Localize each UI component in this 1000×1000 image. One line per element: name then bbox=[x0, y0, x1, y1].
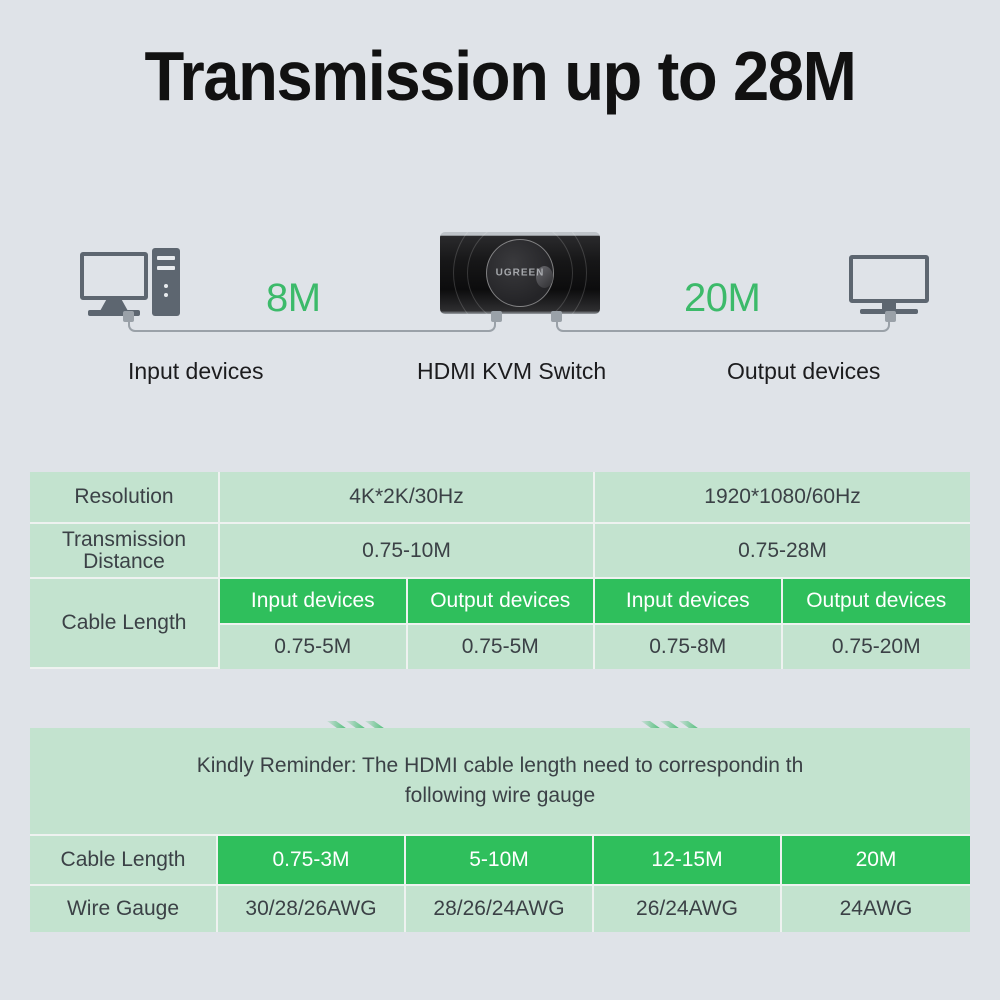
diagram-caption-row: Input devices HDMI KVM Switch Output dev… bbox=[0, 358, 1000, 398]
cell-gauge-length-1: 0.75-3M bbox=[218, 836, 406, 886]
cell-wire-gauge-2: 28/26/24AWG bbox=[406, 886, 594, 932]
row-label-resolution: Resolution bbox=[30, 472, 220, 524]
transmission-label-line2: Distance bbox=[30, 551, 218, 572]
specification-table: Resolution 4K*2K/30Hz 1920*1080/60Hz Tra… bbox=[30, 472, 970, 669]
subheader-output-devices-1: Output devices bbox=[408, 579, 596, 625]
cell-gauge-length-2: 5-10M bbox=[406, 836, 594, 886]
table-row-gauge-values: Wire Gauge 30/28/26AWG 28/26/24AWG 26/24… bbox=[30, 886, 970, 932]
reminder-row: Kindly Reminder: The HDMI cable length n… bbox=[30, 728, 970, 836]
transmission-label-line1: Transmission bbox=[30, 529, 218, 550]
tower-dot-icon bbox=[164, 293, 168, 297]
page-title: Transmission up to 28M bbox=[35, 36, 965, 116]
row-label-gauge-cable-length: Cable Length bbox=[30, 836, 218, 886]
cable-plug-icon bbox=[491, 311, 502, 322]
output-monitor-icon bbox=[849, 255, 929, 303]
input-monitor-icon bbox=[80, 252, 148, 300]
cable-plug-icon bbox=[885, 311, 896, 322]
wire-gauge-table: Kindly Reminder: The HDMI cable length n… bbox=[30, 728, 970, 932]
cell-resolution-right: 1920*1080/60Hz bbox=[595, 472, 970, 524]
input-distance-label: 8M bbox=[266, 276, 321, 321]
caption-output-devices: Output devices bbox=[727, 358, 880, 385]
cell-cable-value-4: 0.75-20M bbox=[783, 625, 971, 669]
tower-dot-icon bbox=[164, 284, 168, 288]
cell-wire-gauge-3: 26/24AWG bbox=[594, 886, 782, 932]
table-row-gauge-cable-lengths: Cable Length 0.75-3M 5-10M 12-15M 20M bbox=[30, 836, 970, 886]
subheader-input-devices-1: Input devices bbox=[220, 579, 408, 625]
cable-plug-icon bbox=[123, 311, 134, 322]
cell-transmission-right: 0.75-28M bbox=[595, 524, 970, 579]
cell-cable-value-2: 0.75-5M bbox=[408, 625, 596, 669]
cell-resolution-left: 4K*2K/30Hz bbox=[220, 472, 595, 524]
tower-slot-icon bbox=[157, 266, 175, 270]
row-label-transmission-distance: Transmission Distance bbox=[30, 524, 220, 579]
subheader-input-devices-2: Input devices bbox=[595, 579, 783, 625]
cell-cable-value-1: 0.75-5M bbox=[220, 625, 408, 669]
subheader-output-devices-2: Output devices bbox=[783, 579, 971, 625]
row-label-wire-gauge: Wire Gauge bbox=[30, 886, 218, 932]
row-label-cable-length: Cable Length bbox=[30, 579, 220, 669]
table-row-cable-headers: Cable Length Input devices Output device… bbox=[30, 579, 970, 625]
caption-hdmi-kvm-switch: HDMI KVM Switch bbox=[417, 358, 606, 385]
cable-plug-icon bbox=[551, 311, 562, 322]
kindly-reminder-note: Kindly Reminder: The HDMI cable length n… bbox=[30, 728, 970, 836]
cell-gauge-length-4: 20M bbox=[782, 836, 970, 886]
table-row-transmission-distance: Transmission Distance 0.75-10M 0.75-28M bbox=[30, 524, 970, 579]
cell-transmission-left: 0.75-10M bbox=[220, 524, 595, 579]
pc-tower-icon bbox=[152, 248, 180, 316]
reminder-line1: Kindly Reminder: The HDMI cable length n… bbox=[197, 754, 804, 777]
table-row-resolution: Resolution 4K*2K/30Hz 1920*1080/60Hz bbox=[30, 472, 970, 524]
cell-cable-value-3: 0.75-8M bbox=[595, 625, 783, 669]
device-brand-logo: UGREEN bbox=[496, 268, 545, 279]
cell-wire-gauge-4: 24AWG bbox=[782, 886, 970, 932]
tower-slot-icon bbox=[157, 256, 175, 260]
cell-gauge-length-3: 12-15M bbox=[594, 836, 782, 886]
reminder-line2: following wire gauge bbox=[405, 784, 595, 807]
output-distance-label: 20M bbox=[684, 276, 760, 321]
hdmi-kvm-switch-device-icon: UGREEN bbox=[440, 232, 600, 314]
cell-wire-gauge-1: 30/28/26AWG bbox=[218, 886, 406, 932]
caption-input-devices: Input devices bbox=[128, 358, 264, 385]
